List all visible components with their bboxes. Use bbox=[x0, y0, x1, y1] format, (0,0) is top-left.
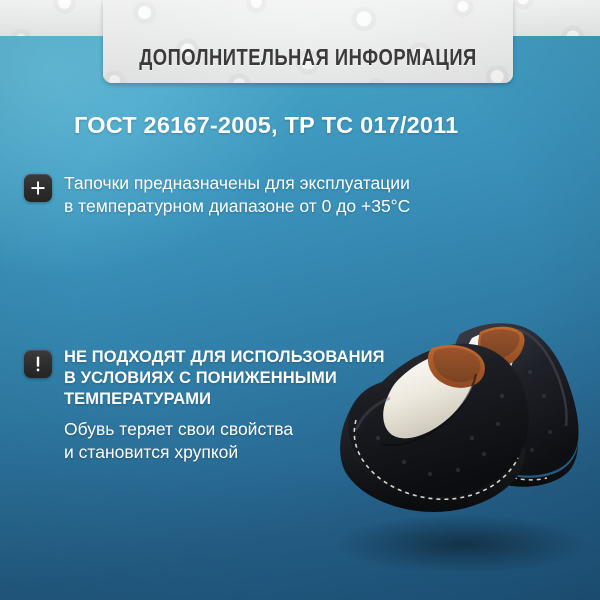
info-item-temperature-range: Тапочки предназначены для эксплуатации в… bbox=[24, 174, 410, 218]
warning-detail-block: Обувь теряет свои свойства и становится … bbox=[64, 418, 385, 464]
text-line: Обувь теряет свои свойства bbox=[64, 418, 385, 441]
warning-caps-block: НЕ ПОДХОДЯТ ДЛЯ ИСПОЛЬЗОВАНИЯ В УСЛОВИЯХ… bbox=[64, 347, 385, 410]
infographic-poster: ДОПОЛНИТЕЛЬНАЯ ИНФОРМАЦИЯ ГОСТ 26167-200… bbox=[0, 0, 600, 600]
info-item-cold-warning-text: НЕ ПОДХОДЯТ ДЛЯ ИСПОЛЬЗОВАНИЯ В УСЛОВИЯХ… bbox=[64, 347, 385, 464]
text-line: Тапочки предназначены для эксплуатации bbox=[64, 172, 410, 195]
info-item-cold-warning: НЕ ПОДХОДЯТ ДЛЯ ИСПОЛЬЗОВАНИЯ В УСЛОВИЯХ… bbox=[24, 350, 385, 464]
banner-title-tab: ДОПОЛНИТЕЛЬНАЯ ИНФОРМАЦИЯ bbox=[103, 0, 513, 83]
text-line: ТЕМПЕРАТУРАМИ bbox=[64, 389, 385, 410]
text-line: В УСЛОВИЯХ С ПОНИЖЕННЫМИ bbox=[64, 368, 385, 389]
photo-shadow bbox=[334, 514, 590, 574]
info-item-temperature-range-text: Тапочки предназначены для эксплуатации в… bbox=[64, 172, 410, 218]
text-line: НЕ ПОДХОДЯТ ДЛЯ ИСПОЛЬЗОВАНИЯ bbox=[64, 347, 385, 368]
banner-title: ДОПОЛНИТЕЛЬНАЯ ИНФОРМАЦИЯ bbox=[139, 44, 477, 71]
exclamation-icon bbox=[24, 350, 52, 378]
plus-icon bbox=[24, 174, 52, 202]
text-line: и становится хрупкой bbox=[64, 441, 385, 464]
text-line: в температурном диапазоне от 0 до +35°C bbox=[64, 195, 410, 218]
page-title: ГОСТ 26167-2005, ТР ТС 017/2011 bbox=[74, 112, 458, 139]
